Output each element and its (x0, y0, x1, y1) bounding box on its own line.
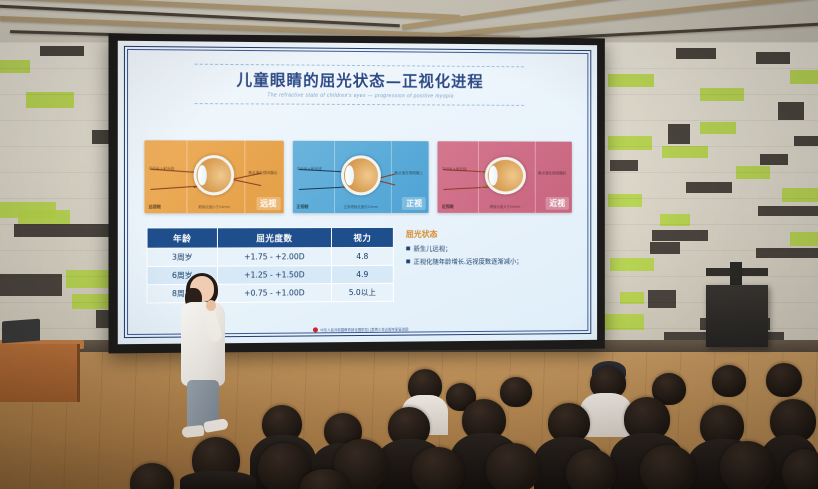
panel-right-caption: 焦点落在视网膜上 (394, 171, 423, 176)
eyeball-graphic (194, 155, 235, 195)
wall-accent-block (758, 206, 818, 216)
audience-head (130, 463, 174, 489)
wall-accent-block (0, 274, 62, 296)
table-row: 3周岁 +1.75 - +2.00D 4.8 (147, 247, 393, 266)
wall-accent-block (26, 92, 74, 108)
audience-head (712, 365, 746, 397)
list-item: ■ 正视化随年龄增长,远视度数逐渐减小； (406, 257, 576, 266)
wall-accent-block (608, 136, 652, 150)
wall-accent-block (662, 146, 708, 158)
wall-accent-block (790, 70, 818, 84)
panel-left-caption: 平行光入射光线 (149, 167, 175, 172)
panel-bottom-left-caption: 远视眼 (149, 204, 161, 210)
lecture-hall-scene: 儿童眼睛的屈光状态—正视化进程 The refractive state of … (0, 0, 818, 489)
panel-bottom-left-caption: 近视眼 (442, 204, 454, 210)
wall-accent-block (0, 60, 30, 73)
wall-accent-block (610, 258, 654, 271)
panel-left-caption: 平行光入射光线 (442, 167, 467, 172)
loudspeaker-cabinet (706, 285, 768, 347)
audience-head (412, 447, 464, 489)
wall-accent-block (782, 188, 818, 202)
wall-accent-block (794, 136, 818, 146)
table-header-diopter: 屈光度数 (217, 228, 331, 248)
wall-accent-block (686, 182, 732, 193)
table-header-vision: 视力 (331, 227, 393, 247)
panel-label-emmetropia: 正视 (402, 197, 426, 210)
presenter-hand (206, 300, 216, 311)
wall-accent-block (736, 166, 770, 179)
wall-accent-block (676, 48, 716, 59)
cell-vision: 4.8 (331, 247, 393, 265)
wall-accent-block (40, 46, 84, 56)
wall-accent-block (756, 248, 818, 258)
wall-accent-block (756, 52, 790, 64)
bullet-icon: ■ (406, 245, 411, 253)
wall-accent-block (650, 242, 680, 254)
wall-accent-block (700, 88, 744, 101)
panel-right-caption: 焦点落在视网膜前 (538, 171, 566, 176)
wall-accent-block (72, 294, 112, 309)
wall-accent-block (14, 224, 120, 237)
wall-accent-block (604, 314, 644, 330)
panel-label-myopia: 近视 (546, 197, 569, 210)
refraction-notes: 屈光状态 ■ 新生儿远视； ■ 正视化随年龄增长,远视度数逐渐减小； (406, 227, 576, 302)
audience-head (766, 363, 802, 397)
wall-accent-block (778, 102, 804, 120)
wall-accent-block (700, 122, 736, 134)
audience-head (566, 449, 616, 489)
national-emblem-icon (313, 327, 318, 332)
panel-axial-length-caption: 眼轴长度小于24mm (175, 204, 253, 209)
wall-accent-block (652, 230, 708, 241)
panel-axial-length-caption: 眼轴长度大于24mm (468, 204, 543, 209)
audience-head (486, 443, 540, 489)
slide-header: 儿童眼睛的屈光状态—正视化进程 The refractive state of … (118, 63, 597, 106)
wall-accent-block (66, 270, 114, 288)
wall-accent-block (608, 74, 654, 87)
eye-panel-myopia: 平行光入射光线 焦点落在视网膜前 近视眼 眼轴长度大于24mm 近视 (438, 141, 572, 213)
audience-head (500, 377, 532, 407)
panel-left-caption: 平行光入射光线 (297, 167, 322, 172)
eyeball-graphic (341, 155, 381, 195)
wall-accent-block (608, 194, 642, 207)
cell-age: 3周岁 (147, 248, 217, 266)
panel-bottom-left-caption: 正视眼 (297, 204, 309, 210)
wall-accent-block (790, 232, 818, 246)
cell-vision: 4.9 (331, 265, 393, 283)
audience-body (180, 471, 256, 489)
slide-title: 儿童眼睛的屈光状态—正视化进程 (118, 70, 597, 92)
eyeball-graphic (485, 157, 526, 195)
eye-panel-emmetropia: 平行光入射光线 焦点落在视网膜上 正视眼 正常眼轴长度约24mm 正视 (292, 141, 428, 213)
wall-accent-block (668, 124, 690, 144)
lens-graphic (345, 165, 354, 185)
lens-graphic (198, 165, 207, 185)
list-item: ■ 新生儿远视； (406, 244, 576, 253)
panel-right-caption: 焦点落在视网膜后 (248, 171, 277, 176)
note-text: 正视化随年龄增长,远视度数逐渐减小； (413, 258, 522, 267)
slide-subtitle: The refractive state of children's eyes … (118, 91, 597, 100)
footer-text: 中华人民共和国教育部全国防控儿童青少年近视专家宣讲团 (320, 328, 408, 333)
audience-head (640, 445, 696, 489)
notes-title: 屈光状态 (406, 229, 576, 240)
wall-accent-block (620, 292, 644, 304)
audience (0, 359, 818, 489)
eye-diagram-panels: 平行光入射光线 焦点落在视网膜后 远视眼 眼轴长度小于24mm 远视 平行光入射… (144, 140, 571, 213)
lens-graphic (488, 166, 497, 186)
table-header-row: 年龄 屈光度数 视力 (147, 227, 393, 248)
wall-accent-block (18, 210, 70, 224)
wall-accent-block (760, 154, 788, 165)
wall-accent-block (660, 214, 690, 226)
bullet-icon: ■ (406, 258, 411, 266)
note-text: 新生儿远视； (413, 245, 451, 253)
panel-label-hyperopia: 远视 (256, 197, 280, 210)
laptop[interactable] (2, 319, 40, 344)
panel-axial-length-caption: 正常眼轴长度约24mm (323, 204, 399, 209)
cell-vision: 5.0以上 (331, 283, 393, 301)
wall-accent-block (610, 160, 638, 171)
eye-panel-hyperopia: 平行光入射光线 焦点落在视网膜后 远视眼 眼轴长度小于24mm 远视 (144, 140, 283, 213)
audience-head (720, 441, 774, 489)
table-header-age: 年龄 (147, 228, 217, 248)
cell-diopter: +1.75 - +2.00D (217, 248, 331, 267)
wall-accent-block (648, 290, 676, 308)
